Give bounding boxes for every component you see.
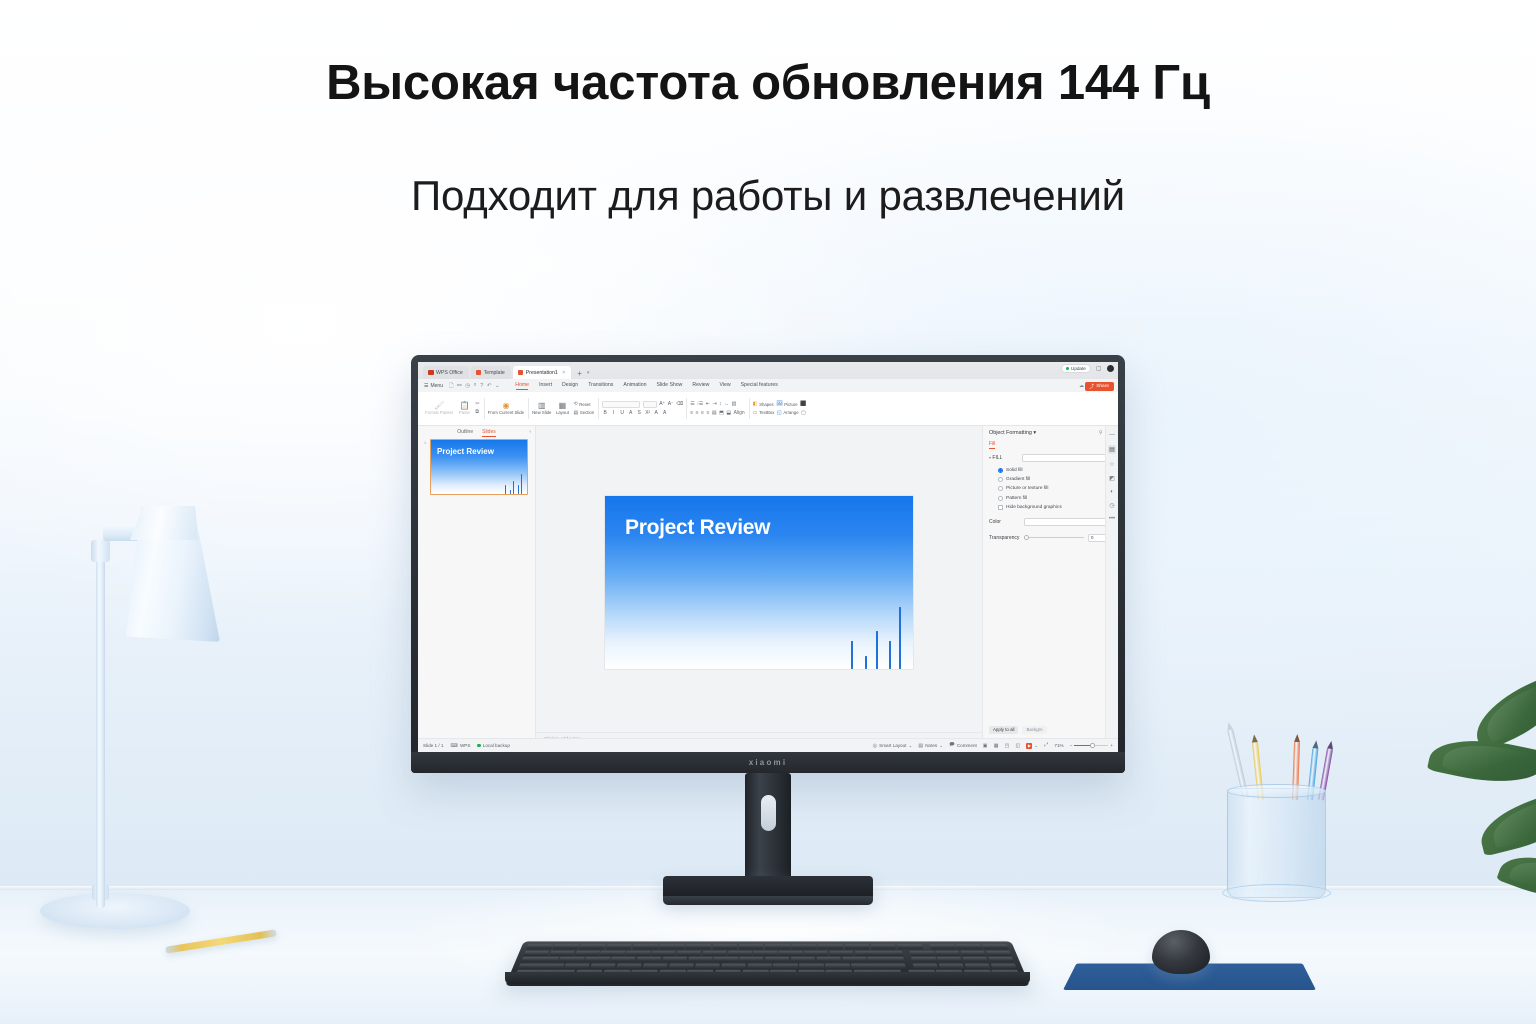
shrink-font-icon[interactable]: A⁻: [668, 401, 674, 407]
undo-icon[interactable]: ↶: [487, 383, 492, 389]
keyboard-key[interactable]: [825, 963, 850, 969]
backup-status-icon: [477, 744, 480, 747]
notes-button[interactable]: ▤ Notes ⌄: [918, 743, 943, 749]
keyboard-key[interactable]: [829, 950, 854, 955]
new-icon[interactable]: 🗋: [449, 381, 454, 391]
strikethrough-button[interactable]: S: [636, 410, 642, 416]
fill-option-picture-or-texture-fill[interactable]: Picture or texture fill: [998, 486, 1112, 491]
keyboard-key[interactable]: [626, 950, 651, 955]
menu-button[interactable]: ☰ Menu: [424, 383, 443, 389]
bullets-icon[interactable]: ☰: [690, 401, 694, 407]
keyboard-key[interactable]: [960, 950, 986, 955]
align-middle-icon[interactable]: ⬓: [726, 410, 731, 416]
comment-label: Comment: [957, 743, 977, 748]
comment-icon: 🗩: [949, 741, 955, 750]
minus-icon[interactable]: —: [1109, 432, 1115, 438]
text-shadow-button[interactable]: A: [628, 410, 634, 416]
slide-bar-decoration: [825, 589, 905, 669]
keyboard-key[interactable]: [714, 957, 739, 962]
button-label: Picture: [784, 402, 797, 407]
keyboard-key[interactable]: [688, 957, 713, 962]
keyboard-key[interactable]: [642, 963, 668, 969]
notes-label: Notes: [925, 743, 937, 748]
keyboard-key[interactable]: [590, 963, 616, 969]
align-group-button[interactable]: Align: [734, 410, 745, 416]
decorative-bar: [865, 656, 867, 669]
layout-toggle-icon[interactable]: ▢: [1096, 365, 1102, 372]
cut-copy-group: ✂ ⧉: [475, 401, 479, 417]
button-label: Arrange: [783, 410, 798, 415]
zoom-track[interactable]: [1074, 745, 1108, 746]
status-dot-icon: [1066, 367, 1069, 370]
normal-view-icon[interactable]: ▣: [983, 743, 988, 749]
keyboard-key[interactable]: [937, 957, 963, 962]
keyboard-key[interactable]: [988, 957, 1014, 962]
align-left-icon[interactable]: ≡: [690, 410, 693, 416]
properties-icon[interactable]: ▤: [1108, 445, 1117, 454]
button-label: Paste: [459, 411, 470, 416]
fill-option-hide-background-graphics[interactable]: Hide background graphics: [998, 505, 1112, 510]
clear-format-icon[interactable]: ⌫: [676, 401, 682, 407]
comment-button[interactable]: 🗩 Comment: [949, 741, 977, 750]
keyboard-key[interactable]: [818, 944, 844, 949]
superscript-button[interactable]: X²: [645, 410, 651, 416]
textbox-button[interactable]: ▭ TextBox: [753, 410, 775, 416]
keyboard-key[interactable]: [929, 944, 956, 949]
keyboard-key[interactable]: [747, 963, 772, 969]
editor-body: Outline Slides ‹ 1 Project Review: [418, 426, 1118, 738]
close-icon[interactable]: ×: [562, 370, 565, 376]
checkbox-icon: [998, 505, 1003, 510]
update-button[interactable]: Update: [1061, 364, 1091, 373]
keyboard-key[interactable]: [913, 963, 939, 969]
more-icon[interactable]: •••: [1109, 516, 1115, 522]
font-row-top: A⁺ A⁻ ⌫: [602, 401, 682, 408]
shapes-button[interactable]: ◧ Shapes: [753, 401, 774, 407]
keyboard-key[interactable]: [728, 950, 752, 955]
pencil-cup-rim: [1227, 784, 1326, 798]
local-backup-status[interactable]: Local backup: [477, 743, 509, 748]
sorter-view-icon[interactable]: ▦: [994, 743, 999, 749]
keyboard-key[interactable]: [844, 944, 870, 949]
page-subheadline: Подходит для работы и развлечений: [0, 172, 1536, 220]
shapes-icon: ◧: [753, 401, 758, 407]
align-right-icon[interactable]: ≡: [701, 410, 704, 416]
keyboard-key[interactable]: [685, 944, 711, 949]
ribbon-tab-insert[interactable]: Insert: [539, 382, 552, 390]
bold-button[interactable]: B: [602, 410, 608, 416]
keyboard-key[interactable]: [816, 957, 841, 962]
pencil-tip: [1294, 734, 1300, 742]
keyboard-key[interactable]: [695, 963, 720, 969]
hamburger-icon: ☰: [424, 383, 428, 389]
pane-subtab-fill[interactable]: Fill: [989, 441, 995, 447]
color-select[interactable]: ⌄: [1024, 518, 1112, 526]
transparency-label: Transparency: [989, 535, 1020, 541]
keyboard-key[interactable]: [842, 957, 867, 962]
clipboard-group: 🖌 Format Painter 📋 Paste ✂ ⧉: [421, 394, 484, 423]
fill-section-label: ▾ FILL: [989, 455, 1017, 461]
ribbon-tab-slide-show[interactable]: Slide Show: [656, 382, 682, 390]
button-label: Section: [580, 410, 594, 415]
button-label: Shapes: [759, 402, 774, 407]
keyboard-key[interactable]: [579, 944, 606, 949]
arrange-icon: ◱: [777, 410, 782, 416]
new-slide-icon: ▥: [538, 402, 546, 410]
reset-section-group: ⟲ Reset ▤ Section: [573, 401, 594, 416]
radio-icon: [998, 486, 1003, 491]
keyboard-key[interactable]: [606, 944, 632, 949]
picture-button[interactable]: 🖼 Picture: [776, 401, 797, 407]
notes-view-icon[interactable]: ◱: [1016, 743, 1021, 749]
text-direction-icon[interactable]: ↔: [724, 401, 729, 407]
keyboard-key[interactable]: [559, 957, 585, 962]
monitor-stand-base-front: [663, 896, 873, 905]
underline-button[interactable]: U: [619, 410, 625, 416]
ribbon-tab-bar: ☰ Menu 🗋 ⚯ ◷ ⌕ ? ↶ ⌄ HomeInsertDesignTra…: [418, 379, 1118, 392]
zoom-slider[interactable]: − +: [1070, 743, 1113, 748]
tab-label: Template: [484, 370, 505, 376]
keyboard-key[interactable]: [990, 963, 1017, 969]
fill-option-pattern-fill[interactable]: Pattern fill: [998, 496, 1112, 501]
keyboard-key[interactable]: [773, 963, 798, 969]
keyboard-key[interactable]: [910, 950, 935, 955]
keyboard-key[interactable]: [712, 944, 737, 949]
slide-canvas[interactable]: Project Review: [536, 426, 982, 738]
keyboard-key[interactable]: [753, 950, 777, 955]
brush-icon: 🖌: [434, 402, 444, 410]
keyboard-key[interactable]: [721, 963, 746, 969]
keyboard-key[interactable]: [659, 944, 685, 949]
pane-header: Object Formatting ▾ ⚲ ✕: [989, 430, 1112, 436]
chevron-down-icon: ⌄: [908, 743, 912, 749]
keyboard-key[interactable]: [526, 944, 553, 949]
thumbnail-number: 1: [424, 440, 426, 445]
keyboard-key[interactable]: [553, 944, 580, 949]
font-size-input[interactable]: [643, 401, 657, 408]
keyboard-key[interactable]: [610, 957, 635, 962]
keyboard-key[interactable]: [585, 957, 611, 962]
chevron-down-icon[interactable]: ⌄: [495, 383, 500, 389]
ribbon-tab-review[interactable]: Review: [692, 382, 709, 390]
align-top-icon[interactable]: ⬒: [719, 410, 724, 416]
font-group: A⁺ A⁻ ⌫ B I U A S X² A A: [598, 394, 686, 423]
decrease-indent-icon[interactable]: ⇤: [706, 401, 710, 407]
from-current-slide-button[interactable]: ◉ From Current Slide: [488, 402, 524, 416]
fill-option-solid-fill[interactable]: Solid fill: [998, 468, 1112, 473]
play-circle-icon: ◉: [502, 402, 509, 410]
share-button[interactable]: ⤴ Share: [1085, 382, 1114, 392]
justify-icon[interactable]: ≡: [706, 410, 709, 416]
keyboard-key[interactable]: [897, 944, 923, 949]
avatar[interactable]: [1107, 365, 1115, 373]
keyboard-key[interactable]: [779, 950, 803, 955]
keyboard-key[interactable]: [851, 963, 906, 969]
slide-thumbnail-wrap: 1 Project Review: [430, 439, 527, 495]
zoom-knob[interactable]: [1090, 743, 1095, 748]
arrange-button[interactable]: ◱ Arrange: [777, 410, 799, 416]
option-label: Picture or texture fill: [1006, 486, 1048, 491]
ribbon-tab-design[interactable]: Design: [562, 382, 578, 390]
smart-layout-button[interactable]: ◎ Smart Layout ⌄: [873, 743, 913, 749]
copy-button[interactable]: ⧉: [475, 409, 479, 416]
keyboard-key[interactable]: [574, 950, 600, 955]
pencil-cup-body: [1227, 788, 1326, 898]
play-button[interactable]: ▶ ⌄: [1026, 743, 1038, 749]
keyboard-gap: [904, 950, 910, 955]
keyboard-key[interactable]: [523, 950, 549, 955]
smart-layout-label: Smart Layout: [879, 743, 906, 748]
keyboard-key[interactable]: [651, 950, 676, 955]
radio-icon: [998, 496, 1003, 501]
decorative-bar: [505, 485, 506, 494]
color-label: Color: [989, 519, 1020, 525]
share-icon: ⤴: [1089, 383, 1094, 390]
share-label: Share: [1096, 384, 1109, 389]
new-slide-button[interactable]: ▥ New Slide: [532, 402, 551, 416]
keyboard-key[interactable]: [669, 963, 694, 969]
keyboard-key[interactable]: [549, 950, 575, 955]
ribbon-tab-home[interactable]: Home: [515, 382, 529, 390]
keyboard-key[interactable]: [956, 944, 983, 949]
format-painter-button[interactable]: 🖌 Format Painter: [425, 402, 453, 416]
fill-section-row: ▾ FILL ⌄: [989, 454, 1112, 462]
keyboard-key[interactable]: [616, 963, 642, 969]
numbering-icon[interactable]: ⁝☰: [697, 401, 703, 407]
keyboard-key[interactable]: [791, 944, 816, 949]
font-color-button[interactable]: A: [653, 410, 659, 416]
grow-font-icon[interactable]: A⁺: [659, 401, 665, 407]
cloud-sync-icon[interactable]: ☁: [1079, 383, 1084, 389]
slideshow-group: ◉ From Current Slide: [484, 394, 528, 423]
keyboard-key[interactable]: [739, 944, 764, 949]
transparency-row: Transparency 0 %: [989, 534, 1112, 542]
keyboard-key[interactable]: [964, 963, 990, 969]
fill-option-gradient-fill[interactable]: Gradient fill: [998, 477, 1112, 482]
section-icon: ▤: [573, 410, 578, 416]
section-button[interactable]: ▤ Section: [573, 410, 594, 416]
ribbon-tab-view[interactable]: View: [719, 382, 730, 390]
decorative-bar: [518, 485, 519, 494]
keyboard-gap: [905, 957, 911, 962]
smart-layout-icon: ◎: [873, 743, 878, 749]
keyboard-key[interactable]: [870, 944, 896, 949]
keyboard-key[interactable]: [791, 957, 815, 962]
monitor-chin: xiaomi: [411, 752, 1125, 773]
layout-button[interactable]: ▦ Layout: [554, 402, 570, 416]
keyboard-key[interactable]: [702, 950, 726, 955]
shape-fill-icon[interactable]: ⬛: [800, 401, 806, 407]
thumbnail-title: Project Review: [437, 447, 494, 456]
font-name-input[interactable]: [602, 401, 640, 408]
keyboard-key[interactable]: [636, 957, 661, 962]
shape-outline-icon[interactable]: ▢: [801, 410, 806, 416]
stand-cable-hole: [761, 795, 776, 831]
spell-check-status[interactable]: ⌨ WPS: [450, 743, 470, 749]
scissors-icon: ✂: [475, 401, 479, 407]
shapes-panel-icon[interactable]: ◩: [1109, 475, 1115, 482]
decorative-bar: [513, 481, 514, 494]
keyboard-key[interactable]: [986, 950, 1012, 955]
tab-slides[interactable]: Slides: [482, 429, 496, 435]
pane-title: Object Formatting ▾: [989, 430, 1036, 436]
drawing-group: ◧ Shapes 🖼 Picture ⬛ ▭: [749, 394, 811, 423]
transparency-slider[interactable]: [1024, 534, 1084, 541]
keyboard-key[interactable]: [518, 963, 564, 969]
animation-panel-icon[interactable]: ◐: [1110, 489, 1114, 495]
line-spacing-icon[interactable]: ↕: [719, 401, 722, 407]
pencil-tip: [1312, 740, 1319, 749]
keyboard-row: [523, 950, 1011, 955]
keyboard-row: [518, 963, 1017, 969]
pane-title-text: Object Formatting: [989, 430, 1032, 436]
paragraph-controls: ☰ ⁝☰ ⇤ ⇥ ↕ ↔ ▥ ≡ ≡ ≡ ≡: [690, 401, 745, 416]
update-label: Update: [1071, 366, 1086, 371]
slides-group: ▥ New Slide ▦ Layout ⟲ Reset ▤: [528, 394, 598, 423]
slide-title[interactable]: Project Review: [625, 516, 770, 540]
reset-button[interactable]: ⟲ Reset: [573, 401, 594, 407]
button-label: Reset: [579, 402, 590, 407]
keyboard-key[interactable]: [935, 950, 961, 955]
italic-button[interactable]: I: [611, 410, 617, 416]
menu-label: Menu: [430, 383, 443, 389]
pin-icon[interactable]: ⚲: [1099, 430, 1103, 436]
keyboard-key[interactable]: [564, 963, 590, 969]
fill-type-select[interactable]: ⌄: [1022, 454, 1112, 462]
button-label: From Current Slide: [488, 411, 524, 416]
ribbon-tab-transitions[interactable]: Transitions: [588, 382, 613, 390]
object-formatting-pane: Object Formatting ▾ ⚲ ✕ Fill ▾ FILL: [982, 426, 1118, 738]
picture-icon: 🖼: [776, 401, 783, 407]
tab-presentation1[interactable]: Presentation1 ×: [513, 366, 571, 379]
ribbon-tabs: HomeInsertDesignTransitionsAnimationSlid…: [515, 382, 778, 390]
keyboard-key[interactable]: [804, 950, 828, 955]
radio-icon: [998, 468, 1003, 473]
reading-view-icon[interactable]: ◳: [1005, 743, 1010, 749]
chevron-down-icon: ⌄: [1034, 743, 1038, 749]
status-bar-right: ◎ Smart Layout ⌄ ▤ Notes ⌄ 🗩 Comment ▣ ▦: [873, 741, 1113, 750]
help-icon[interactable]: ?: [480, 383, 483, 389]
copy-icon: ⧉: [475, 409, 479, 416]
ribbon-toolbar: 🖌 Format Painter 📋 Paste ✂ ⧉ ◉: [418, 392, 1118, 426]
radio-icon: [998, 477, 1003, 482]
favorite-icon[interactable]: ☆: [1109, 461, 1114, 468]
align-center-icon[interactable]: ≡: [696, 410, 699, 416]
keyboard-key[interactable]: [982, 944, 1009, 949]
tab-wps-office[interactable]: WPS Office: [423, 366, 469, 379]
chevron-down-icon[interactable]: ▾: [587, 370, 590, 379]
fit-icon: ⤢: [1044, 742, 1048, 749]
decorative-bar: [889, 641, 891, 669]
history-icon[interactable]: ◷: [1109, 502, 1114, 509]
status-bar: Slide 1 / 1 ⌨ WPS Local backup ◎ Smart L…: [418, 738, 1118, 752]
keyboard-key[interactable]: [962, 957, 988, 962]
textbox-icon: ▭: [753, 410, 758, 416]
keyboard-key[interactable]: [765, 944, 790, 949]
paste-button[interactable]: 📋 Paste: [456, 402, 472, 416]
decorative-bar: [876, 631, 878, 669]
keyboard-key[interactable]: [765, 957, 789, 962]
option-label: Gradient fill: [1006, 477, 1030, 482]
icon-glyph: ▣: [983, 743, 988, 749]
zoom-out-button[interactable]: −: [1070, 743, 1073, 748]
zoom-fill: [1074, 745, 1091, 746]
transparency-value: 0: [1091, 535, 1093, 540]
keyboard-key[interactable]: [855, 950, 904, 955]
chevron-down-icon: ⌄: [939, 743, 943, 749]
slide-1[interactable]: Project Review: [605, 496, 913, 669]
thumbnail-bars: [495, 468, 523, 494]
keyboard-key[interactable]: [739, 957, 763, 962]
tab-outline[interactable]: Outline: [457, 429, 473, 435]
slides-panel: Outline Slides ‹ 1 Project Review: [418, 426, 536, 738]
keyboard-key[interactable]: [521, 957, 559, 962]
presentation-icon: [518, 370, 524, 376]
slide-thumbnail-1[interactable]: Project Review: [430, 439, 528, 495]
slider-track: [1024, 537, 1084, 538]
columns-icon[interactable]: ▥: [732, 401, 737, 407]
chevron-down-icon[interactable]: ▾: [1033, 430, 1036, 436]
lamp-pole: [96, 548, 105, 908]
keyboard-key[interactable]: [867, 957, 904, 962]
slider-knob[interactable]: [1024, 535, 1029, 540]
ribbon-tab-special-features[interactable]: Special features: [741, 382, 778, 390]
wps-office-window: WPS Office Template Presentation1 × + ▾ …: [418, 362, 1118, 752]
icon-glyph: ▦: [994, 743, 999, 749]
icon-glyph: ◳: [1005, 743, 1010, 749]
clock-icon[interactable]: ◷: [465, 383, 470, 389]
option-label: Solid fill: [1006, 468, 1023, 473]
keyboard-key[interactable]: [677, 950, 702, 955]
zoom-level[interactable]: 71%: [1054, 743, 1063, 748]
monitor: WPS Office Template Presentation1 × + ▾ …: [411, 355, 1125, 773]
keyboard-key[interactable]: [938, 963, 964, 969]
link-icon[interactable]: ⚯: [457, 383, 462, 389]
drawing-row-bottom: ▭ TextBox ◱ Arrange ▢: [753, 410, 807, 416]
ribbon-tab-animation[interactable]: Animation: [623, 382, 646, 390]
keyboard-key[interactable]: [632, 944, 658, 949]
keyboard-key[interactable]: [799, 963, 824, 969]
window-controls: Update ▢: [1061, 364, 1114, 373]
distribute-icon[interactable]: ▤: [712, 410, 717, 416]
keyboard-key[interactable]: [911, 957, 937, 962]
keyboard-key[interactable]: [600, 950, 625, 955]
apply-to-all-button[interactable]: Apply to all: [989, 726, 1018, 734]
chevron-down-icon[interactable]: ▾: [989, 455, 991, 460]
color-row: Color ⌄: [989, 518, 1112, 526]
tab-label: WPS Office: [436, 370, 463, 376]
keyboard-key[interactable]: [662, 957, 687, 962]
fit-to-window-button[interactable]: ⤢: [1044, 742, 1048, 749]
keyboard-gap: [923, 944, 929, 949]
button-label: Layout: [556, 411, 569, 416]
new-tab-button[interactable]: +: [577, 370, 582, 379]
highlight-color-button[interactable]: A: [662, 410, 668, 416]
backup-label: Local backup: [483, 743, 510, 748]
find-icon[interactable]: ⌕: [474, 382, 477, 389]
zoom-in-button[interactable]: +: [1110, 743, 1113, 748]
right-icon-rail: — ▤ ☆ ◩ ◐ ◷ •••: [1105, 426, 1118, 738]
tab-template[interactable]: Template: [471, 366, 511, 379]
background-button[interactable]: Backgrn: [1022, 726, 1046, 734]
chevron-left-icon[interactable]: ‹: [529, 429, 531, 435]
brand-logo: xiaomi: [749, 758, 788, 767]
keyboard-row: [526, 944, 1009, 949]
cut-button[interactable]: ✂: [475, 401, 479, 407]
increase-indent-icon[interactable]: ⇥: [712, 401, 716, 407]
tab-label: Presentation1: [526, 370, 558, 376]
spellcheck-icon: ⌨: [450, 743, 458, 749]
